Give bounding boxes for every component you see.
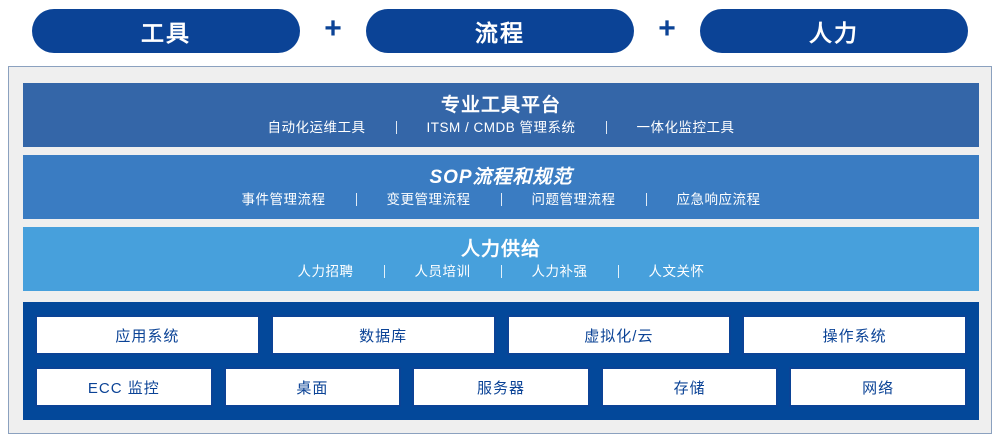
formula-term-label: 流程 [475, 14, 525, 48]
layer-items: 事件管理流程 变更管理流程 问题管理流程 应急响应流程 [228, 193, 775, 207]
layer-item[interactable]: 人员培训 [401, 265, 485, 279]
infrastructure-cell-application[interactable]: 应用系统 [35, 315, 260, 355]
item-separator [606, 121, 607, 134]
layer-item[interactable]: 变更管理流程 [373, 193, 485, 207]
layer-items: 自动化运维工具 ITSM / CMDB 管理系统 一体化监控工具 [254, 121, 749, 135]
layer-band-tools[interactable]: 专业工具平台 自动化运维工具 ITSM / CMDB 管理系统 一体化监控工具 [23, 83, 979, 147]
layer-item[interactable]: 应急响应流程 [663, 193, 775, 207]
infrastructure-cell-storage[interactable]: 存储 [601, 367, 779, 407]
infrastructure-cell-server[interactable]: 服务器 [412, 367, 590, 407]
item-separator [618, 265, 619, 278]
layer-item[interactable]: 人力补强 [518, 265, 602, 279]
formula-row: 工具 + 流程 + 人力 [0, 0, 1000, 62]
layer-item[interactable]: 一体化监控工具 [623, 121, 749, 135]
layer-item[interactable]: 自动化运维工具 [254, 121, 380, 135]
infrastructure-row-1: 应用系统 数据库 虚拟化/云 操作系统 [35, 315, 967, 355]
layer-item[interactable]: 事件管理流程 [228, 193, 340, 207]
item-separator [501, 193, 502, 206]
formula-term-manpower[interactable]: 人力 [700, 9, 968, 53]
layer-band-manpower[interactable]: 人力供给 人力招聘 人员培训 人力补强 人文关怀 [23, 227, 979, 291]
layer-title: SOP流程和规范 [429, 168, 572, 187]
infrastructure-cell-virtualization-cloud[interactable]: 虚拟化/云 [507, 315, 732, 355]
plus-operator-2: + [634, 14, 700, 48]
diagram-frame: 专业工具平台 自动化运维工具 ITSM / CMDB 管理系统 一体化监控工具 … [8, 66, 992, 434]
layer-item[interactable]: ITSM / CMDB 管理系统 [413, 121, 590, 135]
infrastructure-panel: 应用系统 数据库 虚拟化/云 操作系统 ECC 监控 桌面 服务器 存储 网络 [23, 302, 979, 420]
layer-band-sop[interactable]: SOP流程和规范 事件管理流程 变更管理流程 问题管理流程 应急响应流程 [23, 155, 979, 219]
item-separator [396, 121, 397, 134]
item-separator [384, 265, 385, 278]
diagram-canvas: 工具 + 流程 + 人力 专业工具平台 自动化运维工具 ITSM / CMDB … [0, 0, 1000, 442]
item-separator [646, 193, 647, 206]
item-separator [356, 193, 357, 206]
item-separator [501, 265, 502, 278]
formula-term-label: 人力 [809, 14, 859, 48]
formula-term-tools[interactable]: 工具 [32, 9, 300, 53]
layer-title: 专业工具平台 [441, 96, 561, 115]
layer-title: 人力供给 [461, 240, 541, 259]
infrastructure-row-2: ECC 监控 桌面 服务器 存储 网络 [35, 367, 967, 407]
layer-item[interactable]: 人力招聘 [284, 265, 368, 279]
layer-items: 人力招聘 人员培训 人力补强 人文关怀 [284, 265, 719, 279]
formula-term-process[interactable]: 流程 [366, 9, 634, 53]
layer-item[interactable]: 人文关怀 [635, 265, 719, 279]
layer-item[interactable]: 问题管理流程 [518, 193, 630, 207]
infrastructure-cell-ecc-monitoring[interactable]: ECC 监控 [35, 367, 213, 407]
infrastructure-cell-desktop[interactable]: 桌面 [224, 367, 402, 407]
plus-operator-1: + [300, 14, 366, 48]
infrastructure-cell-operating-system[interactable]: 操作系统 [742, 315, 967, 355]
formula-term-label: 工具 [141, 14, 191, 48]
infrastructure-cell-network[interactable]: 网络 [789, 367, 967, 407]
infrastructure-cell-database[interactable]: 数据库 [271, 315, 496, 355]
